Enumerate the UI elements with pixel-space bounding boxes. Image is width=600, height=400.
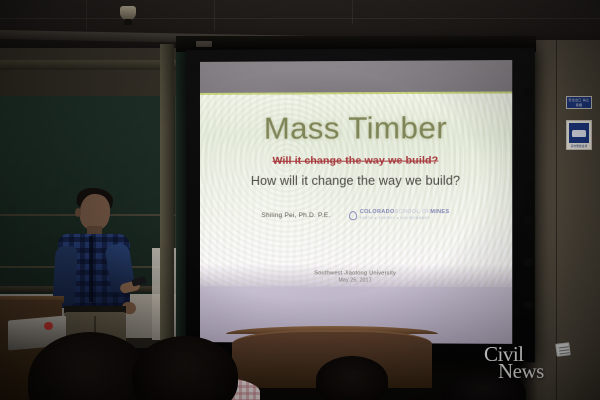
audience-head [316,356,388,400]
projected-slide: Mass Timber Will it change the way we bu… [200,60,512,344]
ceiling-tile-seam [0,18,600,19]
mines-logo-wordmark: COLORADOSCHOOL OFMINES [360,210,450,215]
projection-screen: Mass Timber Will it change the way we bu… [186,48,535,363]
projector-letterbox-top [200,60,512,93]
mines-word-colorado: COLORADO [360,209,395,215]
chalkboard-frame-right [160,44,174,344]
screen-control-button[interactable] [196,41,212,47]
slide-subtitle: How will it change the way we build? [251,174,460,188]
slide-author-row: Shiling Pei, Ph.D. P.E. COLORADOSCHOOL O… [261,210,449,220]
slide-title: Mass Timber [264,112,447,145]
screen-tension-tab [524,301,533,308]
exit-sign: 安全出口 禁止吸烟 [566,96,592,109]
mines-word-schoolof: SCHOOL OF [395,209,431,215]
screen-tension-tab [524,174,533,181]
slide-footer: Southwest Jiaotong University May 25, 20… [200,269,512,285]
ceiling-tile-seam [86,0,87,30]
no-climbing-icon [572,130,586,137]
ceiling-tile-seam [214,0,215,30]
screen-tension-tab [524,259,533,266]
pictogram-sign: 请勿攀爬桌椅 [566,120,592,150]
mines-word-mines: MINES [430,209,449,215]
chalkboard-frame-inner [176,44,186,344]
slide-subtitle-struck: Will it change the way we build? [272,155,438,167]
red-object [44,322,53,330]
newspaper-icon [555,342,570,357]
presenter-shirt-placket [89,236,93,302]
slide-content: Mass Timber Will it change the way we bu… [200,91,512,287]
ceiling-tile-seam [352,0,353,24]
watermark: Civil News [484,342,594,394]
colorado-school-of-mines-logo: COLORADOSCHOOL OFMINES EARTH ● ENERGY ● … [349,210,450,220]
mines-logo-text: COLORADOSCHOOL OFMINES EARTH ● ENERGY ● … [360,210,450,220]
screen-tension-tab [524,131,533,138]
pictogram-sign-glyph-box [569,123,589,143]
presenter-ear [75,208,81,217]
watermark-line-2: News [498,359,544,384]
mines-logo-tagline: EARTH ● ENERGY ● ENVIRONMENT [360,217,450,220]
pictogram-sign-caption: 请勿攀爬桌椅 [569,144,589,148]
exit-sign-text: 安全出口 禁止吸烟 [567,98,591,106]
screen-tension-tab [524,216,533,223]
mines-shield-icon [349,211,357,220]
ceiling-lamp-icon [120,6,136,20]
lecture-hall-photo: 安全出口 禁止吸烟 请勿攀爬桌椅 Mass Timber Will it cha… [0,0,600,400]
slide-footer-date: May 25, 2017 [200,277,512,285]
slide-author: Shiling Pei, Ph.D. P.E. [261,212,330,219]
screen-tension-tab [524,88,533,95]
